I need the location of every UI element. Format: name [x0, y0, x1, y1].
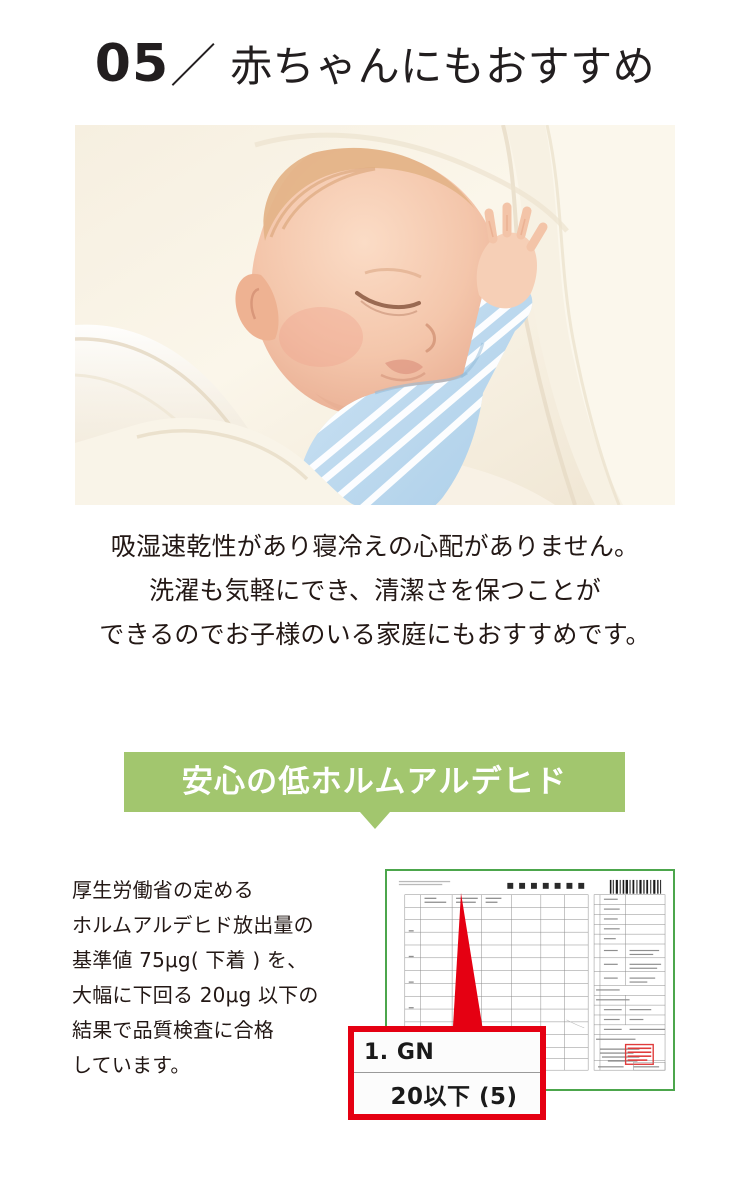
callout-code: 1. GN	[364, 1040, 434, 1065]
banner-label: 安心の低ホルムアルデヒド	[182, 767, 567, 798]
section-separator: ／	[170, 43, 216, 89]
lead-line-1: 吸湿速乾性があり寝冷えの心配がありません。	[0, 525, 750, 569]
test-result-callout: 1. GN 20以下 (5)	[348, 1026, 546, 1120]
formaldehyde-detail-text: 厚生労働省の定める ホルムアルデヒド放出量の 基準値 75μg( 下着 ) を、…	[72, 873, 372, 1083]
banner-body: 安心の低ホルムアルデヒド	[124, 752, 625, 812]
callout-value: 20以下 (5)	[390, 1077, 517, 1111]
detail-line-4: 大幅に下回る 20μg 以下の	[72, 978, 372, 1013]
detail-line-5: 結果で品質検査に合格	[72, 1013, 372, 1048]
callout-value-row: 20以下 (5)	[354, 1073, 540, 1114]
sleeping-baby-photo	[75, 125, 675, 505]
callout-code-row: 1. GN	[354, 1032, 540, 1073]
certificate-pointer-arrow-icon	[452, 893, 485, 1043]
low-formaldehyde-banner: 安心の低ホルムアルデヒド	[124, 752, 625, 812]
lead-line-3: できるのでお子様のいる家庭にもおすすめです。	[0, 613, 750, 657]
section-number: 05	[95, 38, 169, 90]
detail-line-2: ホルムアルデヒド放出量の	[72, 908, 372, 943]
detail-line-6: しています。	[72, 1048, 372, 1083]
lead-paragraph: 吸湿速乾性があり寝冷えの心配がありません。 洗濯も気軽にでき、清潔さを保つことが…	[0, 525, 750, 657]
section-title-text: 赤ちゃんにもおすすめ	[230, 46, 655, 88]
detail-line-1: 厚生労働省の定める	[72, 873, 372, 908]
page-title: 05 ／ 赤ちゃんにもおすすめ	[0, 38, 750, 90]
detail-line-3: 基準値 75μg( 下着 ) を、	[72, 943, 372, 978]
lead-line-2: 洗濯も気軽にでき、清潔さを保つことが	[0, 569, 750, 613]
product-section-page: 05 ／ 赤ちゃんにもおすすめ	[0, 0, 750, 1194]
banner-arrow-down-icon	[360, 812, 390, 829]
